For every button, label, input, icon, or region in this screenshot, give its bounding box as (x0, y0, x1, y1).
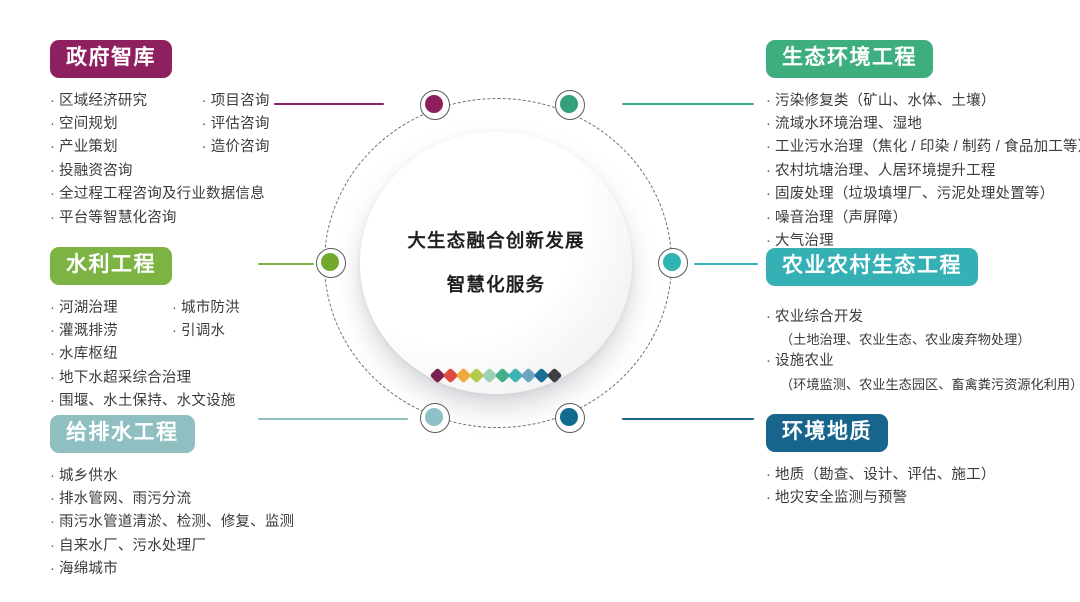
diagram-canvas: 政府智库 ·区域经济研究 ·项目咨询 ·空间规划 ·评估咨询 ·产业策划 ·造价… (0, 0, 1080, 602)
list-item: ·投融资咨询 (50, 160, 310, 183)
list-item: ·自来水厂、污水处理厂 (50, 535, 294, 558)
bullet-icon: · (766, 93, 771, 109)
bullet-icon: · (766, 490, 771, 506)
bullet-icon: · (50, 561, 55, 577)
section-list-agriculture-rural: ·农业综合开发 （土地治理、农业生态、农业废弃物处理） ·设施农业 （环境监测、… (766, 306, 1080, 396)
bullet-icon: · (766, 186, 771, 202)
bullet-icon: · (50, 93, 55, 109)
bullet-icon: · (766, 467, 771, 483)
list-item: ·排水管网、雨污分流 (50, 488, 294, 511)
list-item: ·污染修复类（矿山、水体、土壤） (766, 90, 1080, 113)
bullet-icon: · (50, 346, 55, 362)
list-item: ·雨污水管道清淤、检测、修复、监测 (50, 511, 294, 534)
list-item: ·噪音治理（声屏障） (766, 207, 1080, 230)
bullet-icon: · (766, 309, 771, 325)
list-item: ·海绵城市 (50, 558, 294, 581)
diamond-accent-10 (547, 368, 563, 384)
bullet-icon: · (50, 139, 55, 155)
node-agriculture-rural[interactable] (658, 248, 688, 278)
bullet-icon: · (50, 163, 55, 179)
section-title-water-conservancy: 水利工程 (50, 247, 172, 285)
section-title-agriculture-rural: 农业农村生态工程 (766, 248, 978, 286)
list-item: ·产业策划 (50, 136, 188, 159)
section-list-environmental-geology: ·地质（勘查、设计、评估、施工） ·地灾安全监测与预警 (766, 464, 996, 511)
list-item: ·平台等智慧化咨询 (50, 207, 310, 230)
list-item: ·地灾安全监测与预警 (766, 487, 996, 510)
section-title-water-supply-drainage: 给排水工程 (50, 415, 195, 453)
list-item: ·城市防洪 (172, 297, 280, 320)
list-item: ·围堰、水土保持、水文设施 (50, 390, 280, 413)
list-item: ·农村坑塘治理、人居环境提升工程 (766, 160, 1080, 183)
section-water-conservancy: 水利工程 ·河湖治理 ·城市防洪 ·灌溉排涝 ·引调水 ·水库枢纽 ·地下水超采… (50, 247, 280, 414)
list-item: ·工业污水治理（焦化 / 印染 / 制药 / 食品加工等） (766, 136, 1080, 159)
list-item: ·评估咨询 (202, 113, 310, 136)
bullet-icon: · (50, 323, 55, 339)
section-title-environmental-geology: 环境地质 (766, 414, 888, 452)
list-item: ·引调水 (172, 320, 280, 343)
bullet-icon: · (202, 116, 207, 132)
section-list-water-supply-drainage: ·城乡供水 ·排水管网、雨污分流 ·雨污水管道清淤、检测、修复、监测 ·自来水厂… (50, 465, 294, 582)
list-item: ·流域水环境治理、湿地 (766, 113, 1080, 136)
bullet-icon: · (50, 300, 55, 316)
connector-agriculture-rural (694, 263, 758, 265)
bullet-icon: · (766, 163, 771, 179)
section-water-supply-drainage: 给排水工程 ·城乡供水 ·排水管网、雨污分流 ·雨污水管道清淤、检测、修复、监测… (50, 415, 294, 582)
bullet-icon: · (50, 393, 55, 409)
list-item: ·水库枢纽 (50, 343, 280, 366)
center-hub: 大生态融合创新发展 智慧化服务 (318, 88, 686, 444)
list-item: ·项目咨询 (202, 90, 310, 113)
list-item: ·全过程工程咨询及行业数据信息 (50, 183, 310, 206)
core-text-block: 大生态融合创新发展 智慧化服务 (360, 132, 632, 394)
list-item: （环境监测、农业生态园区、畜禽粪污资源化利用） (766, 374, 1080, 395)
bullet-icon: · (50, 370, 55, 386)
node-environmental-geology[interactable] (555, 403, 585, 433)
list-item: ·河湖治理 (50, 297, 158, 320)
list-item: ·灌溉排涝 (50, 320, 158, 343)
section-government-think-tank: 政府智库 ·区域经济研究 ·项目咨询 ·空间规划 ·评估咨询 ·产业策划 ·造价… (50, 40, 310, 230)
bullet-icon: · (50, 210, 55, 226)
list-item: ·地质（勘查、设计、评估、施工） (766, 464, 996, 487)
section-list-water-conservancy: ·河湖治理 ·城市防洪 ·灌溉排涝 ·引调水 ·水库枢纽 ·地下水超采综合治理 … (50, 297, 280, 414)
bullet-icon: · (50, 514, 55, 530)
bullet-icon: · (766, 210, 771, 226)
node-water-conservancy[interactable] (316, 248, 346, 278)
section-environmental-geology: 环境地质 ·地质（勘查、设计、评估、施工） ·地灾安全监测与预警 (766, 414, 996, 510)
bullet-icon: · (766, 116, 771, 132)
list-item: ·造价咨询 (202, 136, 310, 159)
list-item: ·农业综合开发 (766, 306, 1080, 329)
bullet-icon: · (202, 93, 207, 109)
list-item: ·空间规划 (50, 113, 188, 136)
bullet-icon: · (50, 491, 55, 507)
list-item: ·城乡供水 (50, 465, 294, 488)
section-list-government-think-tank: ·区域经济研究 ·项目咨询 ·空间规划 ·评估咨询 ·产业策划 ·造价咨询 ·投… (50, 90, 310, 231)
diamond-accent-row (360, 370, 632, 381)
bullet-icon: · (50, 116, 55, 132)
core-headline-line2: 智慧化服务 (447, 276, 546, 295)
bullet-icon: · (50, 186, 55, 202)
list-item: ·区域经济研究 (50, 90, 188, 113)
section-agriculture-rural: 农业农村生态工程 ·农业综合开发 （土地治理、农业生态、农业废弃物处理） ·设施… (766, 248, 1080, 395)
bullet-icon: · (50, 468, 55, 484)
node-ecological-environment[interactable] (555, 90, 585, 120)
section-ecological-environment: 生态环境工程 ·污染修复类（矿山、水体、土壤） ·流域水环境治理、湿地 ·工业污… (766, 40, 1080, 254)
bullet-icon: · (766, 139, 771, 155)
section-title-ecological-environment: 生态环境工程 (766, 40, 933, 78)
list-item: ·固废处理（垃圾填埋厂、污泥处理处置等） (766, 183, 1080, 206)
list-item: ·地下水超采综合治理 (50, 367, 280, 390)
bullet-icon: · (202, 139, 207, 155)
bullet-icon: · (766, 353, 771, 369)
node-government-think-tank[interactable] (420, 90, 450, 120)
bullet-icon: · (172, 323, 177, 339)
bullet-icon: · (172, 300, 177, 316)
node-water-supply-drainage[interactable] (420, 403, 450, 433)
list-item: （土地治理、农业生态、农业废弃物处理） (766, 329, 1080, 350)
core-headline-line1: 大生态融合创新发展 (407, 232, 584, 251)
section-list-ecological-environment: ·污染修复类（矿山、水体、土壤） ·流域水环境治理、湿地 ·工业污水治理（焦化 … (766, 90, 1080, 254)
bullet-icon: · (50, 538, 55, 554)
list-item: ·设施农业 (766, 350, 1080, 373)
section-title-government-think-tank: 政府智库 (50, 40, 172, 78)
